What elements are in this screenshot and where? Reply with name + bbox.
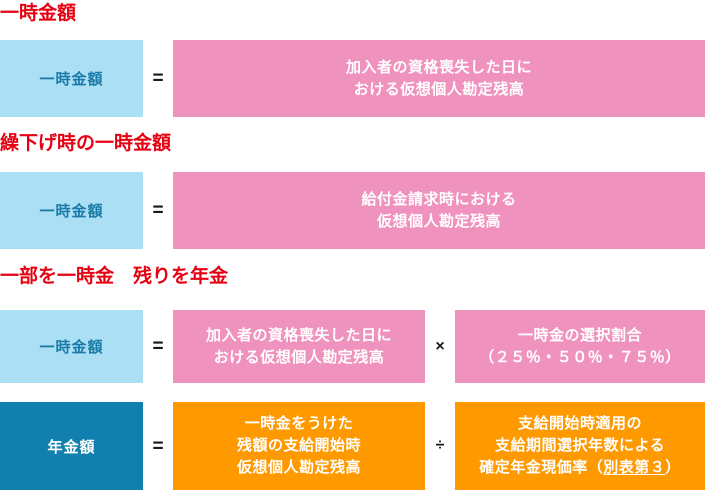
operator-equals: = bbox=[143, 402, 173, 490]
operator-equals: = bbox=[143, 310, 173, 383]
benefit-formula-diagram: 一時金額 一時金額 = 加入者の資格喪失した日に おける仮想個人勘定残高 繰下げ… bbox=[0, 0, 705, 492]
formula-row-annuity: 年金額 = 一時金をうけた 残額の支給開始時 仮想個人勘定残高 ÷ 支給開始時適… bbox=[0, 402, 705, 490]
formula-value-lump-sum: 加入者の資格喪失した日に おける仮想個人勘定残高 bbox=[173, 40, 705, 117]
value-line: おける仮想個人勘定残高 bbox=[346, 79, 532, 101]
value-line: 一時金をうけた bbox=[237, 413, 361, 435]
operator-equals: = bbox=[143, 172, 173, 249]
section-heading-deferred-lump-sum: 繰下げ時の一時金額 bbox=[0, 132, 171, 156]
formula-label-partial-lump-sum: 一時金額 bbox=[0, 310, 143, 383]
value-line: 支給開始時適用の bbox=[479, 413, 681, 435]
operator-multiply: × bbox=[425, 310, 455, 383]
formula-term-annuity-factor: 支給開始時適用の 支給期間選択年数による 確定年金現価率（別表第３） bbox=[455, 402, 705, 490]
appendix-reference: 別表第３ bbox=[603, 459, 665, 476]
formula-label-lump-sum: 一時金額 bbox=[0, 40, 143, 117]
formula-row-deferred-lump-sum: 一時金額 = 給付金請求時における 仮想個人勘定残高 bbox=[0, 172, 705, 249]
formula-label-deferred-lump-sum: 一時金額 bbox=[0, 172, 143, 249]
value-line: 加入者の資格喪失した日に bbox=[346, 57, 532, 79]
formula-term-remaining-balance: 一時金をうけた 残額の支給開始時 仮想個人勘定残高 bbox=[173, 402, 425, 490]
section-heading-partial-lump-sum-annuity: 一部を一時金 残りを年金 bbox=[0, 265, 228, 289]
formula-label-annuity: 年金額 bbox=[0, 402, 143, 490]
value-line: 給付金請求時における bbox=[361, 189, 516, 211]
value-line: 残額の支給開始時 bbox=[237, 435, 361, 457]
value-line: 支給期間選択年数による bbox=[479, 435, 681, 457]
section-heading-lump-sum: 一時金額 bbox=[0, 2, 76, 26]
value-line: おける仮想個人勘定残高 bbox=[206, 347, 392, 369]
value-line: 加入者の資格喪失した日に bbox=[206, 325, 392, 347]
value-line: （２５％・５０％・７５％） bbox=[479, 347, 681, 369]
operator-divide: ÷ bbox=[425, 402, 455, 490]
value-line: 一時金の選択割合 bbox=[479, 325, 681, 347]
value-line-with-reference: 確定年金現価率（別表第３） bbox=[479, 457, 681, 479]
formula-term-selection-ratio: 一時金の選択割合 （２５％・５０％・７５％） bbox=[455, 310, 705, 383]
operator-equals: = bbox=[143, 40, 173, 117]
formula-term-account-balance: 加入者の資格喪失した日に おける仮想個人勘定残高 bbox=[173, 310, 425, 383]
formula-row-partial-lump-sum: 一時金額 = 加入者の資格喪失した日に おける仮想個人勘定残高 × 一時金の選択… bbox=[0, 310, 705, 383]
value-line: 仮想個人勘定残高 bbox=[237, 457, 361, 479]
formula-row-lump-sum: 一時金額 = 加入者の資格喪失した日に おける仮想個人勘定残高 bbox=[0, 40, 705, 117]
formula-value-deferred-lump-sum: 給付金請求時における 仮想個人勘定残高 bbox=[173, 172, 705, 249]
value-line: 仮想個人勘定残高 bbox=[361, 211, 516, 233]
